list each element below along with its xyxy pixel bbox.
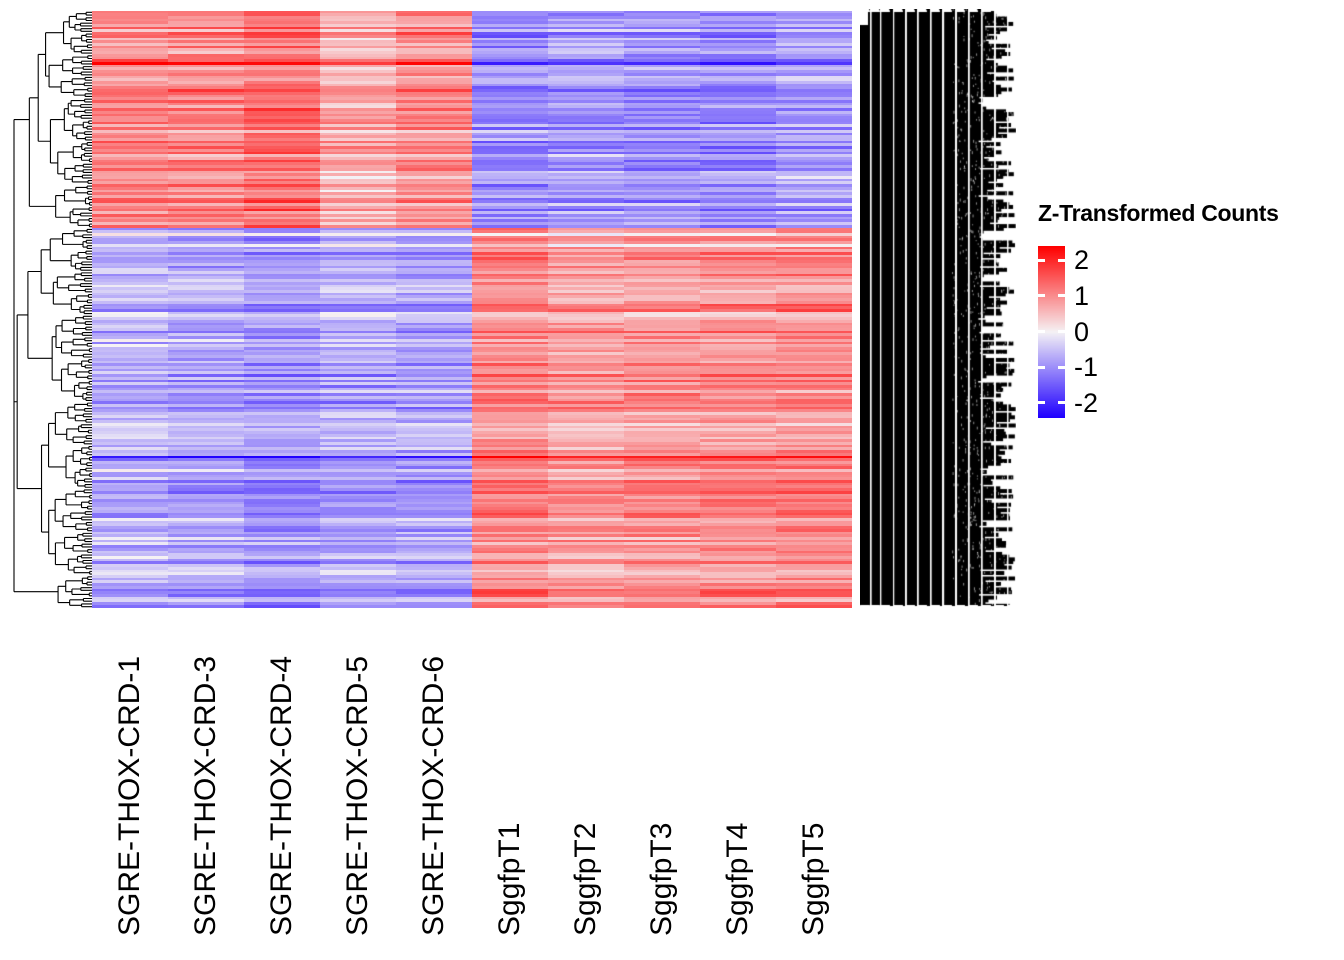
legend-tick-label-0: 2 [1074, 247, 1089, 274]
row-dendrogram [12, 11, 92, 608]
legend-tick-mark-left-2 [1038, 330, 1045, 333]
legend-tick-mark-left-4 [1038, 401, 1045, 404]
row-dendrogram-svg [12, 11, 92, 608]
legend-tick-mark-right-4 [1058, 401, 1065, 404]
legend-tick-mark-right-1 [1058, 294, 1065, 297]
column-label-5: SGRE-THOX-CRD-6 [396, 612, 472, 942]
heatmap-figure: SGRE-THOX-CRD-1SGRE-THOX-CRD-3SGRE-THOX-… [0, 0, 1344, 960]
column-label-text: SGRE-THOX-CRD-3 [189, 656, 223, 942]
column-label-text: SGRE-THOX-CRD-4 [265, 656, 299, 942]
column-label-1: SGRE-THOX-CRD-1 [92, 612, 168, 942]
legend-tick-mark-left-1 [1038, 294, 1045, 297]
column-label-text: SggfpT1 [493, 823, 527, 942]
column-label-text: SggfpT2 [569, 823, 603, 942]
legend: Z-Transformed Counts 210-1-2 [1038, 200, 1338, 430]
legend-title: Z-Transformed Counts [1038, 200, 1279, 227]
legend-tick-mark-left-3 [1038, 366, 1045, 369]
column-label-7: SggfpT2 [548, 612, 624, 942]
column-label-6: SggfpT1 [472, 612, 548, 942]
legend-tick-label-2: 0 [1074, 319, 1089, 346]
legend-tick-mark-right-2 [1058, 330, 1065, 333]
column-label-8: SggfpT3 [624, 612, 700, 942]
heatmap-canvas [92, 11, 852, 608]
legend-tick-label-1: 1 [1074, 283, 1089, 310]
column-label-text: SGRE-THOX-CRD-1 [113, 656, 147, 942]
column-label-2: SGRE-THOX-CRD-3 [168, 612, 244, 942]
column-label-9: SggfpT4 [700, 612, 776, 942]
row-labels-block [860, 9, 1016, 610]
column-label-text: SggfpT4 [721, 823, 755, 942]
legend-tick-mark-right-0 [1058, 259, 1065, 262]
column-label-text: SggfpT5 [797, 823, 831, 942]
legend-tick-mark-left-0 [1038, 259, 1045, 262]
column-label-text: SggfpT3 [645, 823, 679, 942]
column-label-3: SGRE-THOX-CRD-4 [244, 612, 320, 942]
legend-tick-mark-right-3 [1058, 366, 1065, 369]
legend-colorbar-wrap [1038, 246, 1065, 418]
legend-tick-label-4: -2 [1074, 390, 1098, 417]
column-label-text: SGRE-THOX-CRD-5 [341, 656, 375, 942]
column-label-10: SggfpT5 [776, 612, 852, 942]
column-labels: SGRE-THOX-CRD-1SGRE-THOX-CRD-3SGRE-THOX-… [92, 612, 852, 942]
column-label-4: SGRE-THOX-CRD-5 [320, 612, 396, 942]
dendrogram-branches [14, 12, 92, 606]
legend-tick-label-3: -1 [1074, 354, 1098, 381]
heatmap-grid [92, 11, 852, 608]
row-labels-canvas [860, 9, 1016, 610]
column-label-text: SGRE-THOX-CRD-6 [417, 656, 451, 942]
